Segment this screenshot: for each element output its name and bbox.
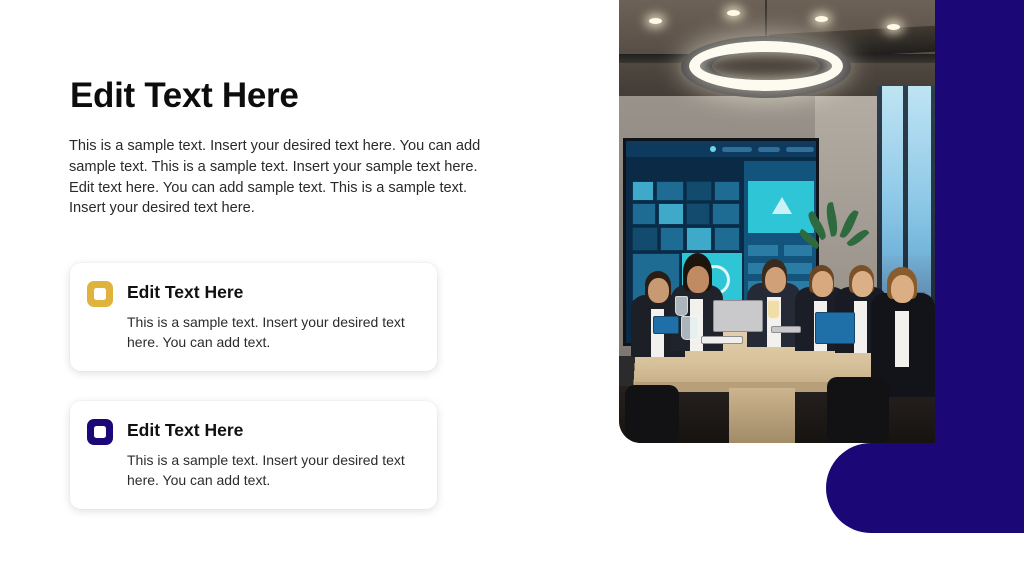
tablet <box>653 316 679 334</box>
navy-right-column-shape <box>934 0 1024 443</box>
page-title: Edit Text Here <box>70 76 299 116</box>
slide-canvas: Edit Text Here This is a sample text. In… <box>0 0 1024 576</box>
photo-inner <box>619 0 935 443</box>
pendant-glow-ring <box>689 41 843 91</box>
person <box>871 247 935 397</box>
drinking-glass <box>675 296 688 316</box>
person-head <box>765 267 786 293</box>
paper-document <box>701 336 743 344</box>
drinking-glass <box>681 316 699 340</box>
juice-glass <box>767 300 780 319</box>
feature-card-title: Edit Text Here <box>127 282 243 303</box>
intro-paragraph: This is a sample text. Insert your desir… <box>69 136 486 219</box>
office-chair <box>827 377 889 443</box>
person-head <box>648 278 669 303</box>
display-tile <box>632 227 658 251</box>
display-status-dot-icon <box>710 146 716 152</box>
downlight-icon <box>649 18 662 24</box>
display-tile <box>632 203 656 225</box>
laptop-screen <box>713 300 763 332</box>
display-label-pill <box>786 147 814 152</box>
display-label-pill <box>758 147 780 152</box>
feature-card[interactable]: Edit Text Here This is a sample text. In… <box>70 263 437 371</box>
paper-document <box>771 326 801 333</box>
downlight-icon <box>887 24 900 30</box>
office-chair <box>625 385 679 443</box>
display-tile <box>686 203 710 225</box>
tablet-screen <box>815 312 855 344</box>
person-head <box>891 275 914 303</box>
feature-card[interactable]: Edit Text Here This is a sample text. In… <box>70 401 437 509</box>
feature-card-body: This is a sample text. Insert your desir… <box>127 451 417 490</box>
feature-card-title: Edit Text Here <box>127 420 243 441</box>
display-tile <box>712 203 740 225</box>
tablet <box>815 312 855 344</box>
display-tile <box>686 181 712 201</box>
business-meeting-conference-room-photo <box>619 0 935 443</box>
person-shirt <box>895 311 909 367</box>
downlight-icon <box>815 16 828 22</box>
table-base <box>729 388 795 443</box>
rounded-square-outline-icon <box>87 419 113 445</box>
person-shirt <box>854 301 867 353</box>
display-tile <box>656 181 684 201</box>
feature-card-body: This is a sample text. Insert your desir… <box>127 313 417 352</box>
downlight-icon <box>727 10 740 16</box>
display-tile <box>632 181 654 201</box>
person-head <box>852 271 873 297</box>
display-tile <box>714 181 740 201</box>
play-triangle-icon <box>772 197 792 214</box>
person-head <box>687 266 709 293</box>
tablet-screen <box>653 316 679 334</box>
person-head <box>812 271 833 297</box>
rounded-square-outline-icon <box>87 281 113 307</box>
laptop <box>713 300 763 334</box>
display-label-pill <box>722 147 752 152</box>
display-tile <box>658 203 684 225</box>
plant-leaf <box>824 202 840 237</box>
navy-rounded-bottom-shape <box>826 443 1024 533</box>
